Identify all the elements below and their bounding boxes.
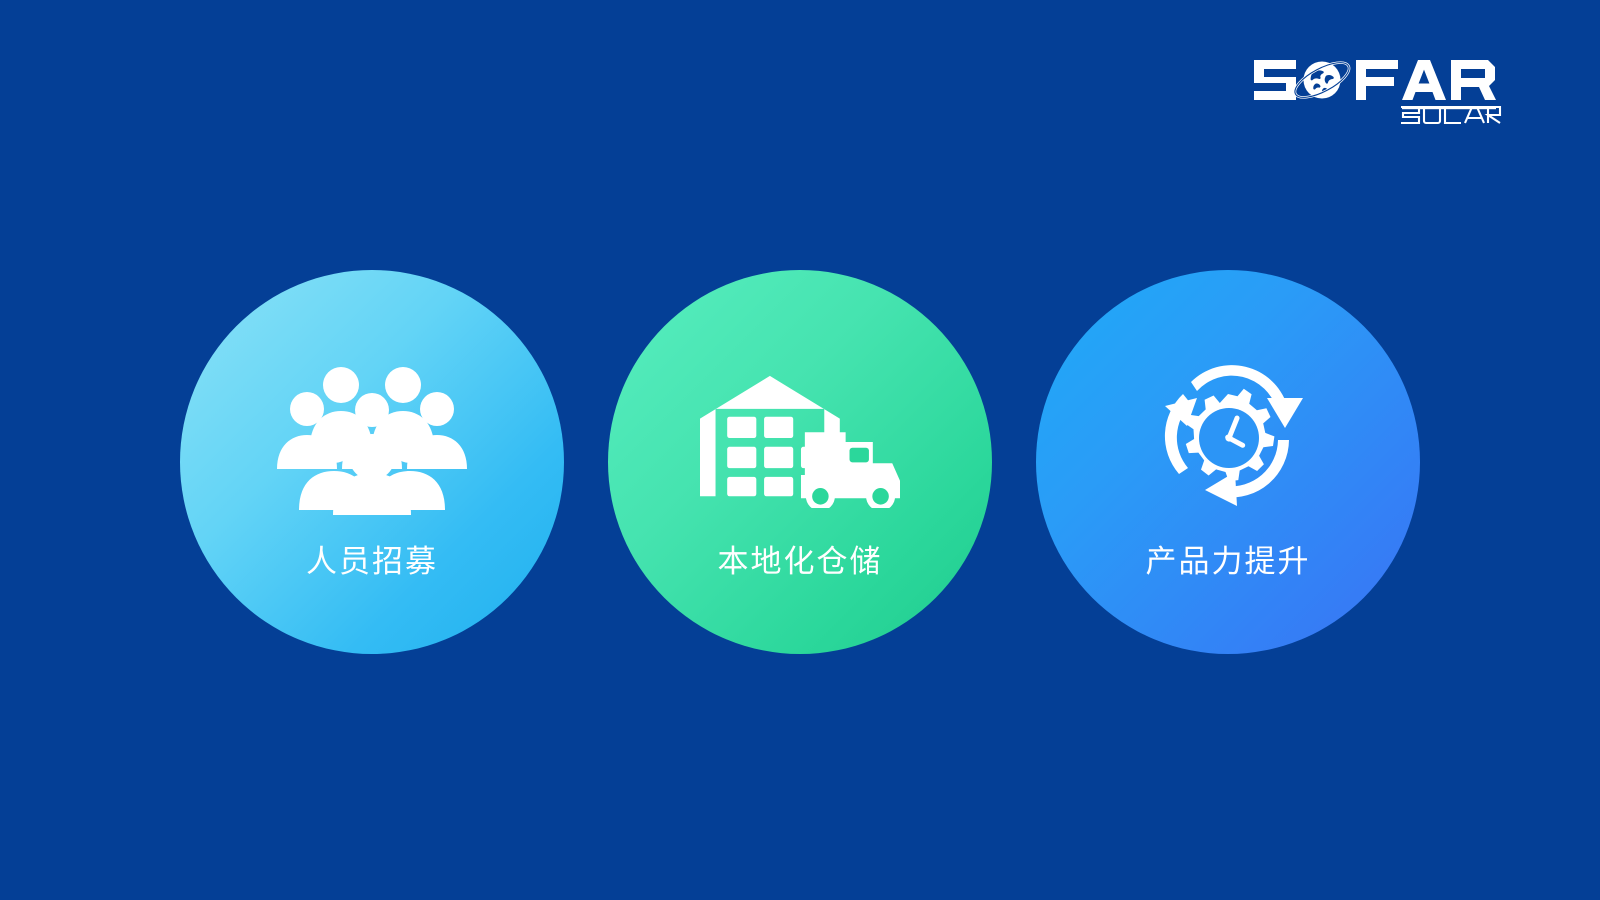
logo-svg [1252, 48, 1502, 126]
card-warehouse[interactable]: 本地化仓储 [608, 270, 992, 654]
card-label: 本地化仓储 [718, 546, 883, 577]
card-label: 产品力提升 [1146, 546, 1311, 577]
gear-clock-cycle-icon [1128, 356, 1328, 524]
card-product-power[interactable]: 产品力提升 [1036, 270, 1420, 654]
sofar-solar-logo [1252, 48, 1502, 126]
feature-card-row: 人员招募 [0, 268, 1600, 656]
slide-canvas: 人员招募 [0, 0, 1600, 900]
card-recruitment[interactable]: 人员招募 [180, 270, 564, 654]
people-group-icon [272, 356, 472, 524]
card-label: 人员招募 [306, 546, 438, 577]
warehouse-truck-icon-svg [700, 372, 900, 508]
gear-clock-cycle-icon-svg [1139, 354, 1317, 526]
warehouse-truck-icon [700, 356, 900, 524]
people-group-icon-svg [274, 365, 470, 515]
